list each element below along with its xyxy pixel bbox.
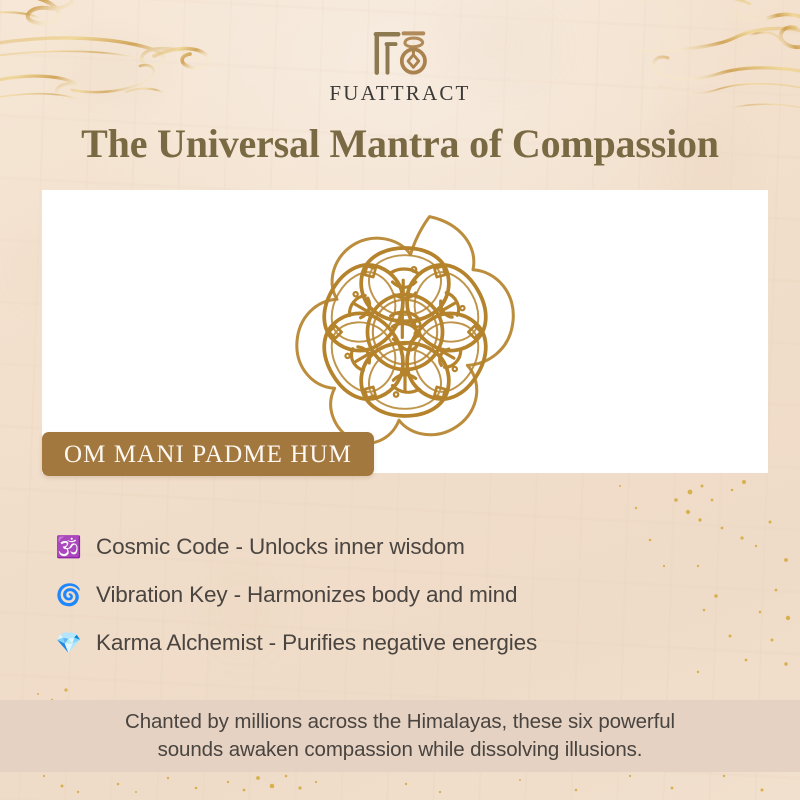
caption-line-2: sounds awaken compassion while dissolvin…: [158, 736, 643, 764]
caption-band: Chanted by millions across the Himalayas…: [0, 700, 800, 772]
feature-label: Cosmic Code - Unlocks inner wisdom: [96, 535, 465, 560]
caption-line-1: Chanted by millions across the Himalayas…: [125, 708, 675, 736]
page-title: The Universal Mantra of Compassion: [0, 122, 800, 165]
list-item: 🕉️ Cosmic Code - Unlocks inner wisdom: [52, 524, 752, 570]
cyclone-icon: 🌀: [52, 585, 86, 606]
om-symbol-icon: 🕉️: [52, 537, 86, 558]
feature-label: Karma Alchemist - Purifies negative ener…: [96, 631, 537, 656]
list-item: 🌀 Vibration Key - Harmonizes body and mi…: [52, 572, 752, 618]
hero-image-panel: [42, 190, 768, 473]
mantra-banner-label: OM MANI PADME HUM: [64, 442, 352, 467]
brand-wordmark: FUATTRACT: [329, 83, 470, 104]
fuattract-glyph-logo-icon: [371, 28, 429, 78]
mantra-banner: OM MANI PADME HUM: [42, 432, 374, 476]
tibetan-mantra-mandala-icon: [271, 198, 539, 466]
brand-header: FUATTRACT: [0, 28, 800, 104]
gem-stone-icon: 💎: [52, 633, 86, 654]
poster-canvas: FUATTRACT The Universal Mantra of Compas…: [0, 0, 800, 800]
list-item: 💎 Karma Alchemist - Purifies negative en…: [52, 620, 752, 666]
feature-label: Vibration Key - Harmonizes body and mind: [96, 583, 517, 608]
feature-list: 🕉️ Cosmic Code - Unlocks inner wisdom 🌀 …: [52, 524, 752, 668]
